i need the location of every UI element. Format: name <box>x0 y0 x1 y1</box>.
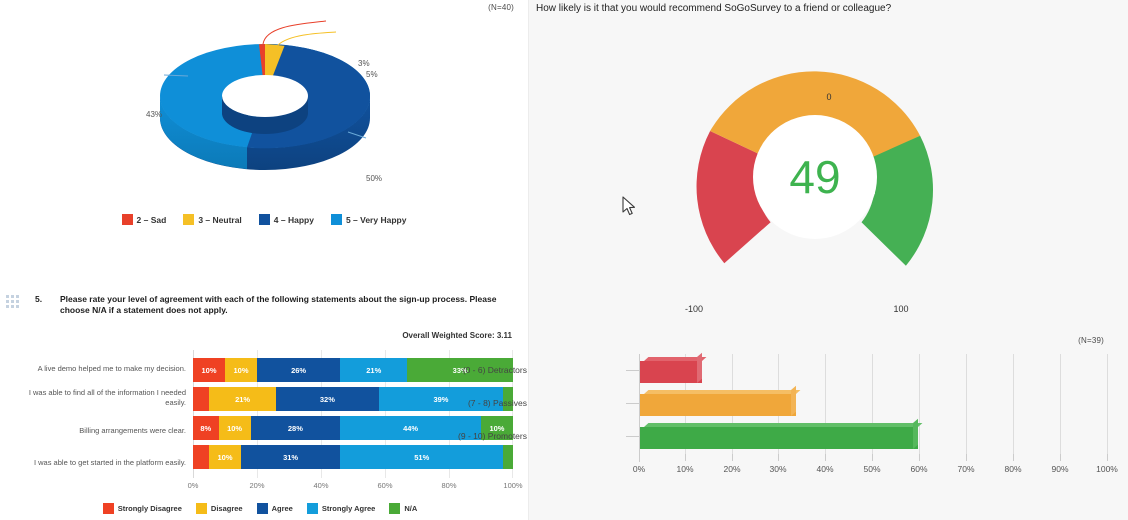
legend-item-very-happy[interactable]: 5 – Very Happy <box>331 214 406 225</box>
nps-tickmark <box>778 454 779 461</box>
legend-label-disagree: Disagree <box>211 504 243 513</box>
legend-swatch-neutral <box>183 214 194 225</box>
nps-leader-line <box>626 403 639 404</box>
nps-score-gauge: 49 0 -100 100 <box>529 40 1128 290</box>
stacked-segment-strongly-disagree[interactable]: 8% <box>193 416 219 440</box>
nps-tickmark <box>639 454 640 461</box>
stacked-segment-strongly-disagree[interactable] <box>193 387 209 411</box>
stacked-segment-strongly-disagree[interactable] <box>193 445 209 469</box>
nps-tickmark <box>1013 454 1014 461</box>
nps-tickmark <box>1060 454 1061 461</box>
donut-svg <box>150 18 380 178</box>
nps-bar-front-face <box>640 394 796 416</box>
stacked-segment-strongly-disagree[interactable]: 10% <box>193 358 225 382</box>
legend-swatch-na <box>389 503 400 514</box>
nps-bar-passives[interactable] <box>640 390 796 416</box>
stacked-segment-disagree[interactable]: 10% <box>225 358 257 382</box>
donut-callout-happy: 50% <box>366 174 382 183</box>
nps-category-bar-chart: (0 - 6) Detractors (7 - 8) Passives (9 -… <box>529 352 1128 497</box>
nps-bar-front-face <box>640 361 702 383</box>
nps-gridline <box>1107 354 1108 454</box>
gauge-label-max: 100 <box>881 304 921 314</box>
nps-sample-size-label: (N=39) <box>1078 336 1104 345</box>
legend-label-sad: 2 – Sad <box>137 215 167 225</box>
nps-category-label: (0 - 6) Detractors <box>317 365 527 375</box>
donut-legend: 2 – Sad 3 – Neutral 4 – Happy 5 – Very H… <box>0 214 528 225</box>
stacked-row-label: A live demo helped me to make my decisio… <box>14 364 186 374</box>
legend-swatch-happy <box>259 214 270 225</box>
nps-bar-side-face <box>791 386 796 416</box>
donut-callout-neutral: 5% <box>366 70 378 79</box>
drag-grid-icon[interactable] <box>6 295 19 308</box>
legend-swatch-very-happy <box>331 214 342 225</box>
nps-tickmark <box>685 454 686 461</box>
legend-item-neutral[interactable]: 3 – Neutral <box>183 214 241 225</box>
legend-label-happy: 4 – Happy <box>274 215 314 225</box>
nps-gridline <box>966 354 967 454</box>
legend-swatch-disagree <box>196 503 207 514</box>
nps-bar-promoters[interactable] <box>640 423 918 449</box>
gauge-label-min: -100 <box>674 304 714 314</box>
stacked-segment-agree[interactable]: 31% <box>241 445 340 469</box>
legend-label-neutral: 3 – Neutral <box>198 215 241 225</box>
nps-bar-front-face <box>640 427 918 449</box>
nps-gridline <box>1060 354 1061 454</box>
axis-tick: 0% <box>633 464 645 474</box>
left-report-panel: (N=40) <box>0 0 528 520</box>
nps-bar-detractors[interactable] <box>640 357 702 383</box>
nps-leader-line <box>626 436 639 437</box>
satisfaction-donut-chart: 3% 5% 43% 50% <box>0 18 528 213</box>
stacked-segment-strongly-agree[interactable]: 51% <box>340 445 503 469</box>
nps-leader-line <box>626 370 639 371</box>
legend-swatch-strongly-disagree <box>103 503 114 514</box>
stacked-bar-legend: Strongly Disagree Disagree Agree Strongl… <box>0 503 520 514</box>
nps-tickmark <box>872 454 873 461</box>
legend-label-na: N/A <box>404 504 417 513</box>
gauge-label-mid: 0 <box>529 92 1128 102</box>
legend-label-very-happy: 5 – Very Happy <box>346 215 406 225</box>
legend-item-happy[interactable]: 4 – Happy <box>259 214 314 225</box>
stacked-row-label: I was able to find all of the informatio… <box>14 388 186 408</box>
axis-tick: 60% <box>377 481 392 490</box>
axis-tick: 100% <box>1096 464 1118 474</box>
stacked-segment-disagree[interactable]: 10% <box>209 445 241 469</box>
stacked-row-label: Billing arrangements were clear. <box>14 426 186 436</box>
legend-item-disagree[interactable]: Disagree <box>196 503 243 514</box>
nps-gridline <box>1013 354 1014 454</box>
axis-tick: 20% <box>249 481 264 490</box>
nps-tickmark <box>1107 454 1108 461</box>
legend-item-sad[interactable]: 2 – Sad <box>122 214 167 225</box>
question-text: Please rate your level of agreement with… <box>60 294 500 317</box>
axis-tick: 80% <box>1004 464 1021 474</box>
axis-tick: 50% <box>863 464 880 474</box>
legend-label-strongly-disagree: Strongly Disagree <box>118 504 182 513</box>
nps-question-title: How likely is it that you would recommen… <box>536 3 891 14</box>
gauge-value-text: 49 <box>789 151 840 203</box>
legend-label-strongly-agree: Strongly Agree <box>322 504 375 513</box>
legend-swatch-strongly-agree <box>307 503 318 514</box>
right-nps-panel: How likely is it that you would recommen… <box>528 0 1128 520</box>
axis-tick: 60% <box>910 464 927 474</box>
axis-tick: 80% <box>441 481 456 490</box>
stacked-segment-disagree[interactable]: 21% <box>209 387 276 411</box>
nps-tickmark <box>919 454 920 461</box>
nps-bar-side-face <box>697 353 702 383</box>
donut-callout-very-happy: 43% <box>146 110 162 119</box>
legend-swatch-sad <box>122 214 133 225</box>
gauge-svg: 49 <box>684 50 974 300</box>
nps-gridline <box>919 354 920 454</box>
legend-item-strongly-agree[interactable]: Strongly Agree <box>307 503 375 514</box>
mouse-cursor-icon <box>622 196 638 218</box>
donut-callout-sad: 3% <box>358 59 370 68</box>
legend-swatch-agree <box>257 503 268 514</box>
axis-tick: 0% <box>188 481 199 490</box>
nps-category-label: (9 - 10) Promoters <box>317 431 527 441</box>
nps-category-label: (7 - 8) Passives <box>317 398 527 408</box>
nps-tickmark <box>825 454 826 461</box>
overall-weighted-score-label: Overall Weighted Score: 3.11 <box>0 331 512 340</box>
axis-tick: 10% <box>676 464 693 474</box>
axis-tick: 100% <box>503 481 522 490</box>
axis-tick: 20% <box>723 464 740 474</box>
nps-x-axis-ticks: 0% 10% 20% 30% 40% 50% 60% 70% 80% 90% 1… <box>639 464 1107 478</box>
axis-tick: 90% <box>1051 464 1068 474</box>
stacked-segment-disagree[interactable]: 10% <box>219 416 251 440</box>
nps-bar-side-face <box>913 419 918 449</box>
legend-label-agree: Agree <box>272 504 293 513</box>
legend-item-strongly-disagree[interactable]: Strongly Disagree <box>103 503 182 514</box>
axis-tick: 70% <box>957 464 974 474</box>
donut-sample-size-label: (N=40) <box>488 3 514 12</box>
stacked-row-label: I was able to get started in the platfor… <box>14 458 186 468</box>
stacked-x-axis-ticks: 0% 20% 40% 60% 80% 100% <box>193 481 513 495</box>
axis-tick: 30% <box>769 464 786 474</box>
dashboard-screen: (N=40) <box>0 0 1128 520</box>
axis-tick: 40% <box>313 481 328 490</box>
stacked-segment-na[interactable] <box>503 445 513 469</box>
axis-tick: 40% <box>816 464 833 474</box>
question-number: 5. <box>35 294 42 304</box>
legend-item-agree[interactable]: Agree <box>257 503 293 514</box>
nps-tickmark <box>732 454 733 461</box>
legend-item-na[interactable]: N/A <box>389 503 417 514</box>
nps-tickmark <box>966 454 967 461</box>
table-row[interactable]: 10% 31% 51% <box>193 445 513 469</box>
